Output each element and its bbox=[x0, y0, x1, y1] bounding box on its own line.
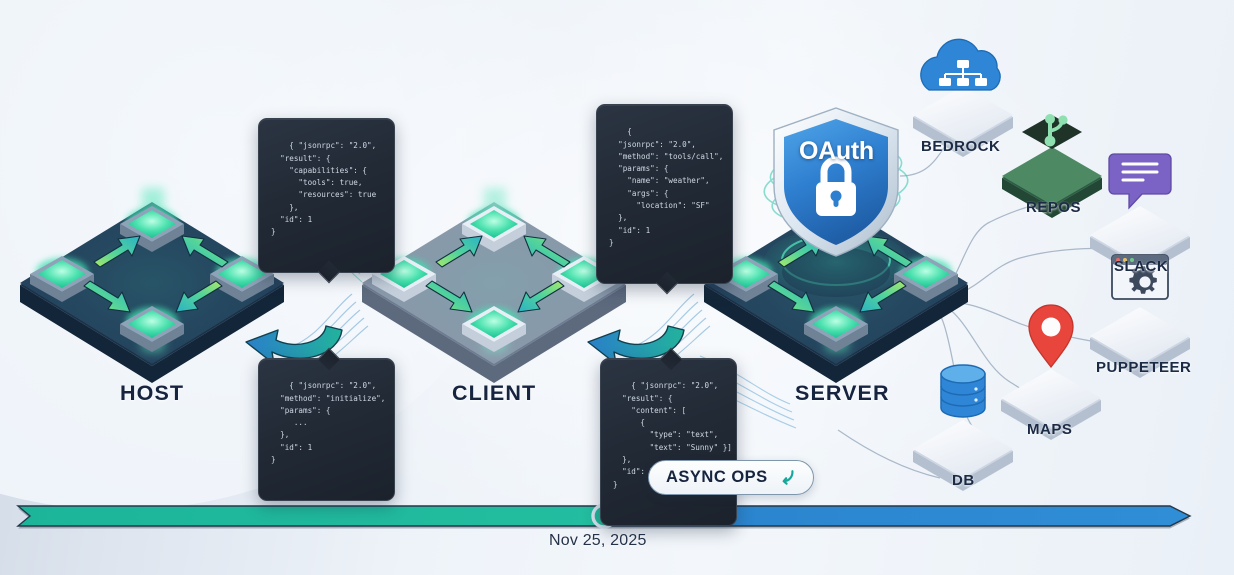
map-pin-icon bbox=[1029, 305, 1073, 367]
refresh-arrow-icon bbox=[777, 467, 797, 487]
code-text: { "jsonrpc": "2.0", "method": "tools/cal… bbox=[609, 127, 723, 247]
cloud-hierarchy-icon bbox=[921, 39, 1000, 90]
async-ops-label: ASYNC OPS bbox=[666, 468, 768, 487]
code-card-host-initialize: { "jsonrpc": "2.0", "method": "initializ… bbox=[258, 358, 395, 501]
code-card-tools-call: { "jsonrpc": "2.0", "method": "tools/cal… bbox=[596, 104, 733, 284]
async-ops-badge[interactable]: ASYNC OPS bbox=[648, 460, 814, 495]
database-icon bbox=[941, 365, 985, 417]
service-label-maps: MAPS bbox=[1027, 421, 1072, 438]
service-label-repos: REPOS bbox=[1026, 199, 1081, 216]
node-label-client: CLIENT bbox=[452, 381, 536, 406]
service-label-puppeteer: PUPPETEER bbox=[1096, 359, 1191, 376]
timeline-date-label: Nov 25, 2025 bbox=[549, 532, 647, 550]
chat-bubble-icon bbox=[1109, 154, 1171, 208]
git-branch-icon bbox=[1022, 114, 1082, 149]
node-label-server: SERVER bbox=[795, 381, 890, 406]
code-text: { "jsonrpc": "2.0", "result": { "capabil… bbox=[271, 141, 376, 236]
code-card-tools-result: { "jsonrpc": "2.0", "result": { "content… bbox=[600, 358, 737, 526]
code-text: { "jsonrpc": "2.0", "method": "initializ… bbox=[271, 381, 385, 464]
diagram-canvas: { "jsonrpc": "2.0", "result": { "capabil… bbox=[0, 0, 1234, 575]
service-label-db: DB bbox=[952, 472, 975, 489]
timeline-left-segment bbox=[18, 506, 604, 526]
node-label-host: HOST bbox=[120, 381, 184, 406]
service-label-slack: SLACK bbox=[1114, 258, 1168, 275]
code-card-host-capabilities: { "jsonrpc": "2.0", "result": { "capabil… bbox=[258, 118, 395, 273]
service-label-bedrock: BEDROCK bbox=[921, 138, 1000, 155]
